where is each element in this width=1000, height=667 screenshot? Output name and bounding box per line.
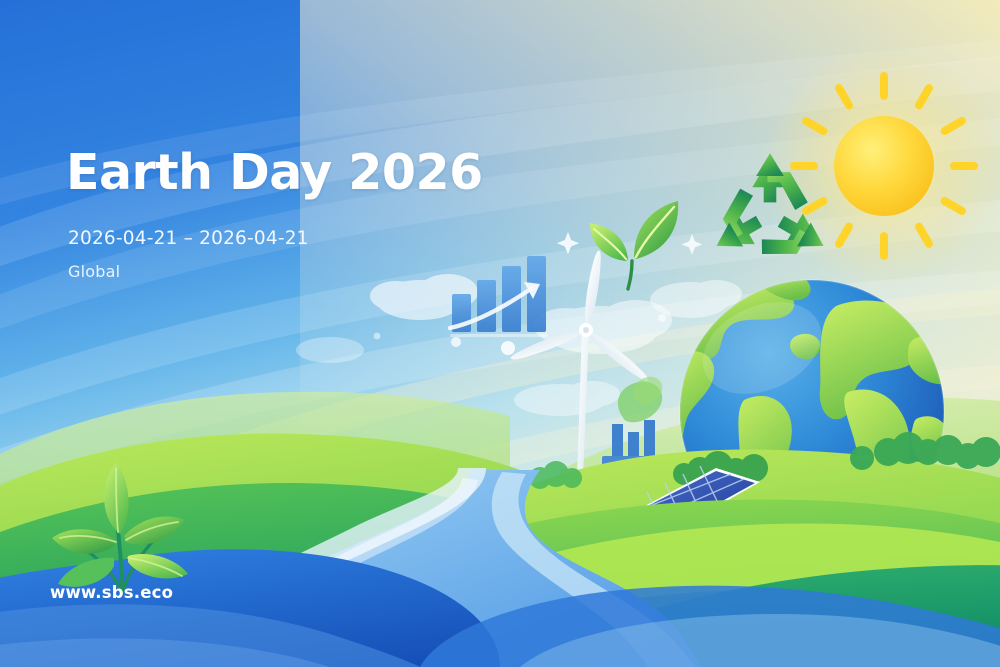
earth-day-banner: Earth Day 2026 2026-04-21 – 2026-04-21 G… (0, 0, 1000, 667)
chart-bar (477, 280, 496, 332)
sun-group (764, 46, 1000, 286)
cloud (296, 337, 364, 363)
sparkle-dot (374, 333, 381, 340)
chart-bar (527, 256, 546, 332)
sparkle-dot (451, 337, 461, 347)
sparkle-dot (658, 314, 666, 322)
sparkle-dot (501, 341, 515, 355)
chart-baseline (450, 334, 548, 337)
sun-disc (834, 116, 934, 216)
illustration-canvas (0, 0, 1000, 667)
